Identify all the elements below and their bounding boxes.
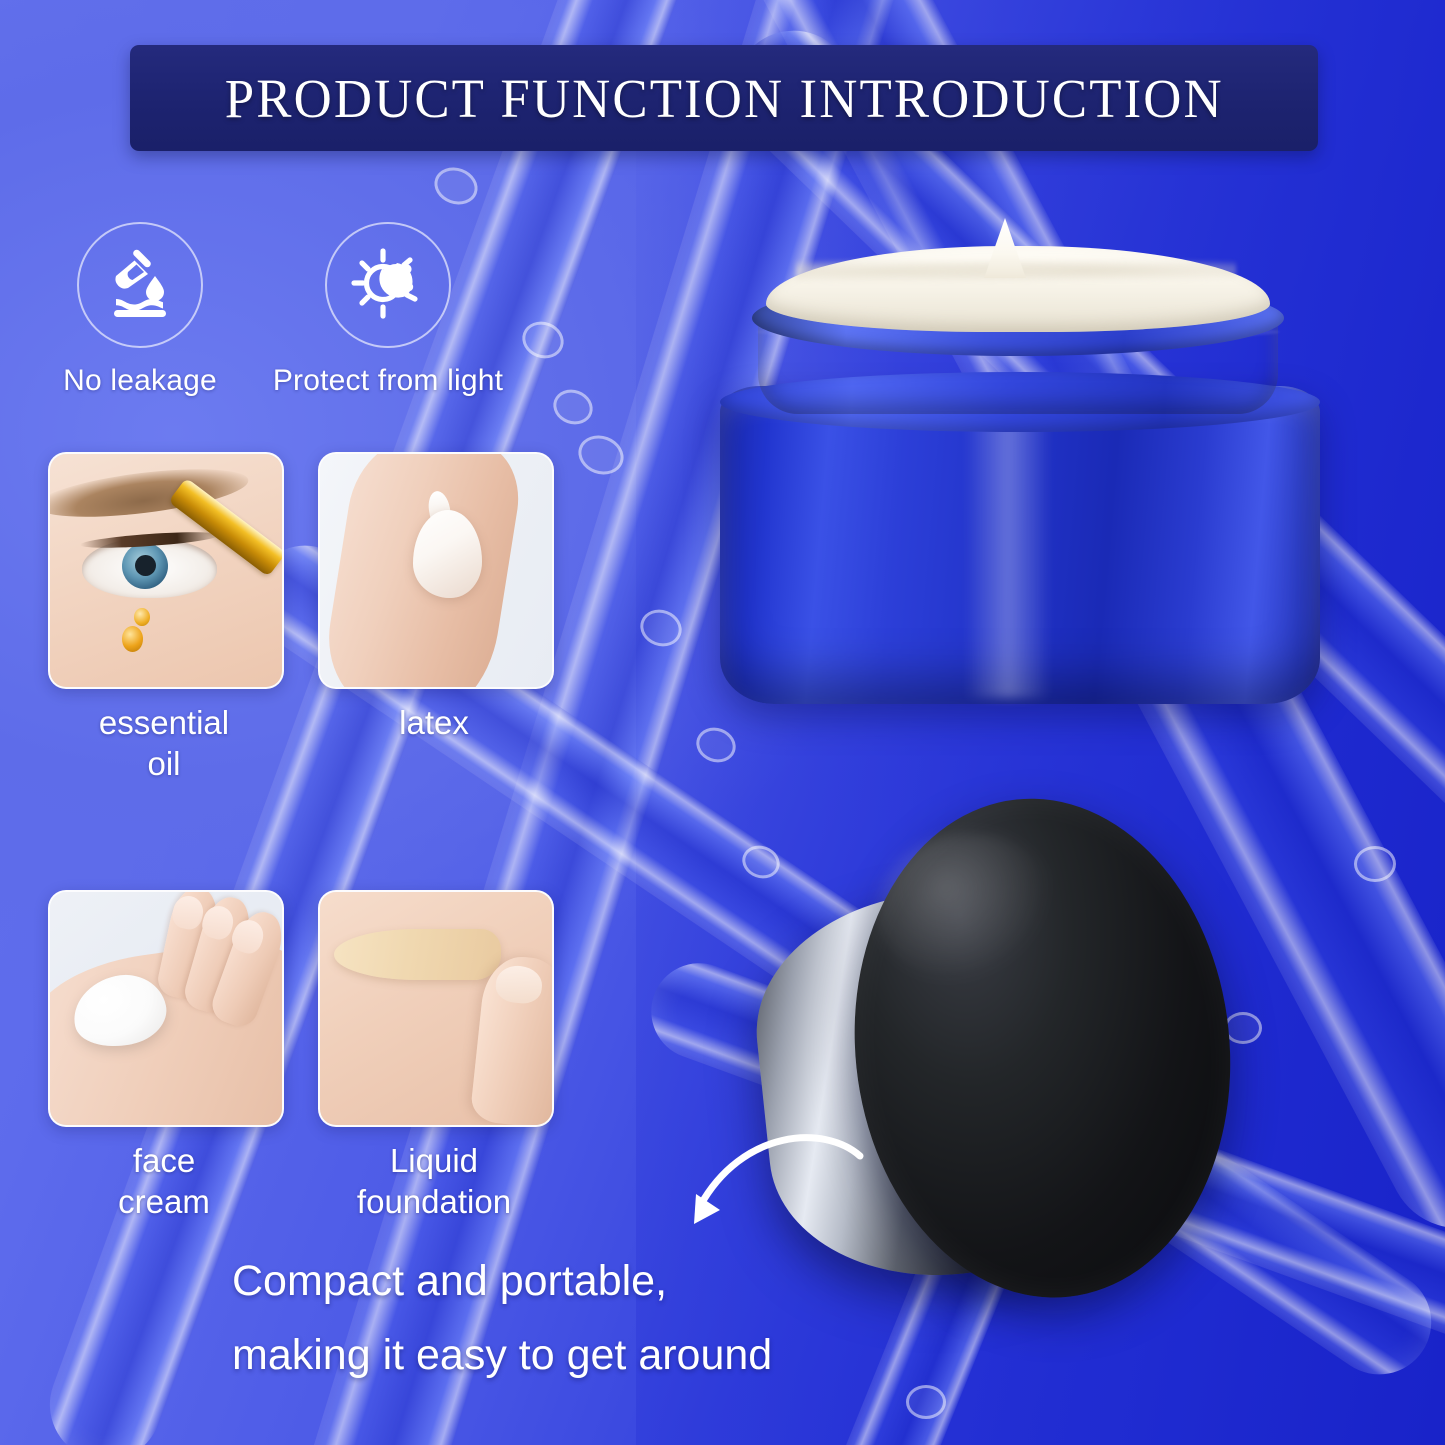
usage-row-top: essential oil latex	[48, 452, 548, 785]
caption-line-2: making it easy to get around	[232, 1319, 972, 1393]
test-tube-drop-waterproof-icon	[103, 248, 177, 322]
bubble-decoration	[1224, 1012, 1262, 1044]
sun-moon-light-protection-icon	[350, 247, 426, 323]
usage-caption-line2: oil	[147, 745, 180, 782]
eye-with-dropper-photo	[50, 454, 282, 687]
usage-cell-latex[interactable]: latex	[318, 452, 550, 785]
foundation-swatch-on-skin-photo	[320, 892, 552, 1125]
usage-cell-liquid-foundation[interactable]: Liquid foundation	[318, 890, 550, 1223]
bubble-decoration	[1354, 846, 1396, 882]
cream-smear-on-arm-photo	[320, 454, 552, 687]
usage-cell-face-cream[interactable]: face cream	[48, 890, 280, 1223]
feature-icon-row: No leakage	[44, 222, 484, 398]
hand-with-cream-dollop-photo	[50, 892, 282, 1125]
usage-caption-line2: cream	[118, 1183, 210, 1220]
usage-caption-line1: Liquid	[390, 1142, 478, 1179]
header-banner: PRODUCT FUNCTION INTRODUCTION	[130, 45, 1318, 151]
feature-icon-circle	[325, 222, 451, 348]
usage-caption-line2: foundation	[357, 1183, 511, 1220]
usage-thumbnail-grid: essential oil latex	[48, 452, 548, 1223]
product-function-poster: PRODUCT FUNCTION INTRODUCTION No leakage	[0, 0, 1445, 1445]
usage-row-bottom: face cream Liquid foundation	[48, 890, 548, 1223]
usage-thumbnail-essential-oil[interactable]	[48, 452, 284, 689]
usage-thumbnail-latex[interactable]	[318, 452, 554, 689]
feature-no-leakage: No leakage	[44, 222, 236, 398]
usage-caption: essential oil	[48, 703, 280, 785]
feature-icon-circle	[77, 222, 203, 348]
usage-thumbnail-face-cream[interactable]	[48, 890, 284, 1127]
usage-caption-line1: essential	[99, 704, 229, 741]
caption-line-1: Compact and portable,	[232, 1245, 972, 1319]
bottom-caption: Compact and portable, making it easy to …	[232, 1245, 972, 1393]
usage-caption-line1: latex	[399, 704, 469, 741]
feature-label: No leakage	[63, 364, 217, 398]
curved-arrow-pointing-to-lid	[664, 1128, 874, 1258]
usage-caption-line1: face	[133, 1142, 195, 1179]
usage-caption: Liquid foundation	[318, 1141, 550, 1223]
feature-label: Protect from light	[273, 364, 503, 398]
usage-caption: latex	[318, 703, 550, 744]
page-title: PRODUCT FUNCTION INTRODUCTION	[225, 67, 1224, 130]
usage-caption: face cream	[48, 1141, 280, 1223]
usage-thumbnail-liquid-foundation[interactable]	[318, 890, 554, 1127]
feature-protect-from-light: Protect from light	[292, 222, 484, 398]
product-jar-image	[700, 240, 1330, 740]
usage-cell-essential-oil[interactable]: essential oil	[48, 452, 280, 785]
